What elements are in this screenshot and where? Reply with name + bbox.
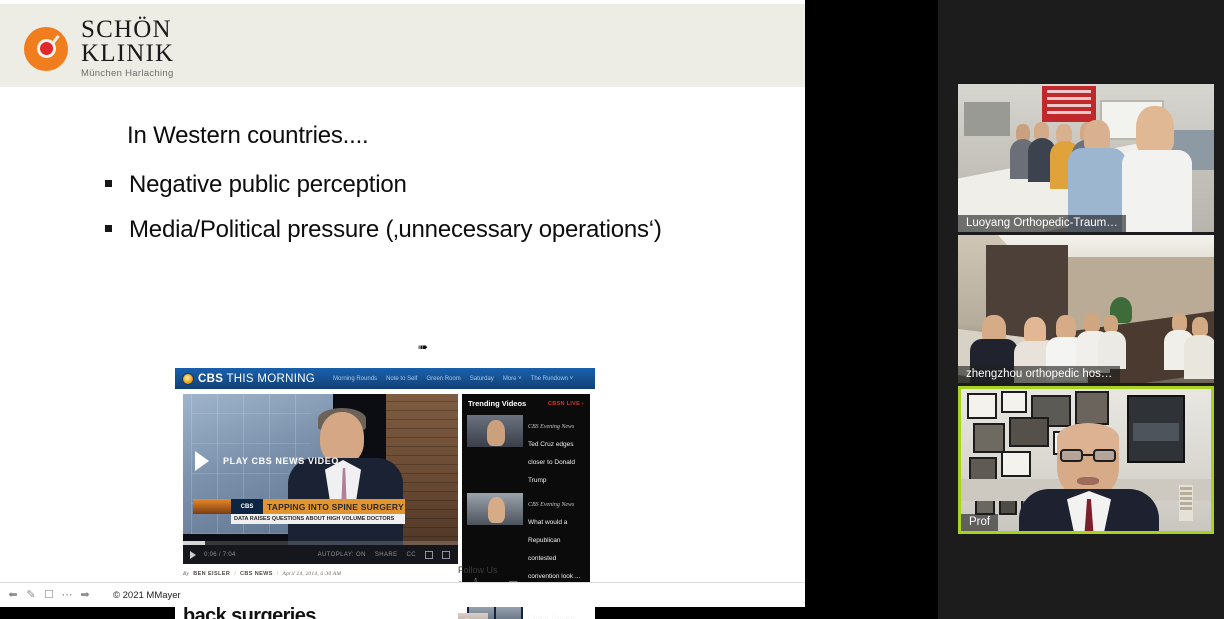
logo-line-2: KLINIK [81,42,174,66]
trending-title: Trending Videos [468,399,526,408]
chyron-logo: CBS [231,499,263,514]
next-slide-button[interactable]: ➡ [79,589,91,601]
byline-source: CBS NEWS [240,571,273,577]
participant-tile-luoyang[interactable]: Luoyang Orthopedic-Traum… [958,84,1214,232]
from-cbs-thumbnail [458,613,488,619]
play-video-label: PLAY CBS NEWS VIDEO [223,456,339,466]
play-video-button[interactable]: PLAY CBS NEWS VIDEO [195,451,339,471]
trending-videos-panel: Trending Videos CBSN LIVE › CBS Evening … [462,394,590,584]
cbs-brand: CBS THIS MORNING [198,373,315,385]
byline-author[interactable]: BEN EISLER [193,571,230,577]
cbs-nav-link-5[interactable]: The Rundown ˅ [531,376,574,382]
fullscreen-icon[interactable] [442,551,450,559]
participant-name-label: Prof [961,514,998,531]
cbs-nav-link-2[interactable]: Green Room [426,376,460,382]
logo-circle-icon [24,27,68,71]
participant-tile-prof[interactable]: Prof [958,386,1214,534]
slide-lead-text: In Western countries.... [127,122,369,150]
cbs-video-player[interactable]: PLAY CBS NEWS VIDEO CBS TAPPING INTO SPI… [183,394,458,564]
cbs-eye-icon [182,373,194,385]
byline-by: By [183,571,189,577]
presentation-control-bar: ⬅ ✎ ☐ ⋯ ➡ © 2021 MMayer [0,582,805,607]
logo-line-1: SCHÖN [81,18,174,42]
slide-bullet-2: Media/Political pressure (‚unnecessary o… [105,216,662,244]
cbs-brand-rest: THIS MORNING [223,373,315,385]
cbsn-live-link[interactable]: CBSN LIVE › [548,401,584,407]
mouse-cursor-icon: ➠ [418,342,425,353]
slide-bullet-2-text: Media/Political pressure (‚unnecessary o… [129,216,662,244]
participant-video-panel: Luoyang Orthopedic-Traum… zhengzhou [938,0,1224,619]
cbs-nav-link-3[interactable]: Saturday [470,376,494,382]
screen-options-icon[interactable]: ☐ [43,589,55,601]
participant-tile-zhengzhou[interactable]: zhengzhou orthopedic hos… [958,235,1214,383]
cbs-navbar: CBS THIS MORNING Morning Rounds Note to … [175,368,595,389]
schon-klinik-logo: SCHÖN KLINIK München Harlaching [24,18,174,79]
trending-kicker: CBS Evening News [528,424,574,430]
trending-kicker: CBS Evening News [528,502,574,508]
trending-thumbnail [467,415,523,447]
shared-slide: SCHÖN KLINIK München Harlaching In Weste… [0,0,805,607]
video-control-bar: 0:06 / 7:04 AUTOPLAY: ON SHARE CC [183,545,458,564]
from-cbs-news-item[interactable]: 2016 ACM Awards red carpet 1582050 VIEWS [458,613,590,619]
bullet-square-icon [105,225,112,232]
cbs-brand-strong: CBS [198,373,223,385]
logo-line-3: München Harlaching [81,68,174,79]
participant-name-label: Luoyang Orthopedic-Traum… [958,215,1126,232]
cbs-nav-link-1[interactable]: Note to Self [386,376,417,382]
cbs-nav-link-0[interactable]: Morning Rounds [333,376,377,382]
follow-us-title: Follow Us [458,565,590,575]
chyron-subtitle: DATA RAISES QUESTIONS ABOUT HIGH VOLUME … [231,514,405,524]
trending-title-text: Ted Cruz edges closer to Donald Trump [528,441,575,484]
trending-header: Trending Videos CBSN LIVE › [462,394,590,412]
prev-slide-button[interactable]: ⬅ [7,589,19,601]
video-share-button[interactable]: SHARE [375,552,398,558]
slide-bullet-1-text: Negative public perception [129,171,407,199]
cbs-nav-link-4[interactable]: More ˅ [503,376,522,382]
video-cc-button[interactable]: CC [407,552,416,558]
pen-tool-icon[interactable]: ✎ [25,589,37,601]
more-options-icon[interactable]: ⋯ [61,589,73,601]
screen-root: SCHÖN KLINIK München Harlaching In Weste… [0,0,1224,619]
slide-body: In Western countries.... Negative public… [0,87,805,582]
slide-copyright: © 2021 MMayer [113,590,181,601]
video-chyron: CBS TAPPING INTO SPINE SURGERY DATA RAIS… [193,499,405,524]
play-triangle-icon [195,451,209,471]
slide-bullet-1: Negative public perception [105,171,407,199]
cbs-nav-links: Morning Rounds Note to Self Green Room S… [333,376,582,382]
participant-name-label: zhengzhou orthopedic hos… [958,366,1120,383]
video-timecode: 0:06 / 7:04 [204,552,236,558]
chyron-title: TAPPING INTO SPINE SURGERY [263,499,405,514]
video-autoplay-toggle[interactable]: AUTOPLAY: ON [318,552,366,558]
video-still-image [183,394,458,564]
trending-item[interactable]: CBS Evening News Ted Cruz edges closer t… [462,412,590,490]
volume-icon[interactable] [425,551,433,559]
trending-thumbnail [467,493,523,525]
byline-date: April 24, 2014, 6:30 AM [283,571,342,577]
article-byline: By BEN EISLER / CBS NEWS / April 24, 201… [183,571,341,577]
video-play-icon[interactable] [190,551,196,559]
slide-header: SCHÖN KLINIK München Harlaching [0,4,805,87]
bullet-square-icon [105,180,112,187]
